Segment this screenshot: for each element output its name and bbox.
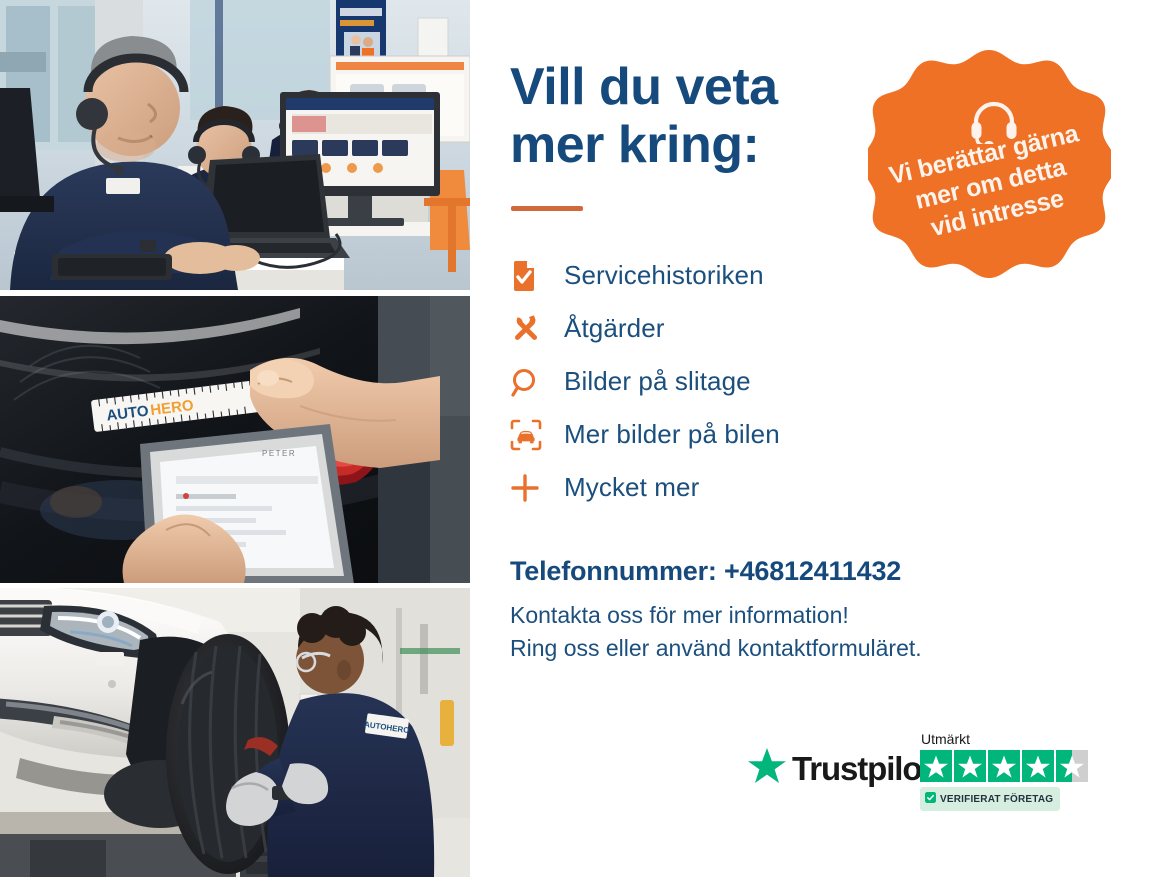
list-item: Åtgärder bbox=[510, 302, 970, 355]
trustpilot-star-icon bbox=[748, 748, 786, 789]
car-scan-icon bbox=[510, 419, 564, 451]
verified-badge: VERIFIERAT FÖRETAG bbox=[920, 787, 1060, 811]
contact-text: Kontakta oss för mer information! Ring o… bbox=[510, 599, 1070, 664]
star-rating bbox=[920, 750, 1100, 782]
star-half bbox=[1056, 750, 1088, 782]
contact-line-1: Kontakta oss för mer information! bbox=[510, 599, 1070, 632]
trustpilot-rating: Utmärkt bbox=[920, 731, 1100, 811]
verified-check-icon bbox=[925, 790, 936, 808]
contact-line-2: Ring oss eller använd kontaktformuläret. bbox=[510, 632, 1070, 665]
magnifier-icon bbox=[510, 366, 564, 398]
verified-label: VERIFIERAT FÖRETAG bbox=[940, 794, 1053, 805]
feature-label: Mer bilder på bilen bbox=[564, 419, 780, 450]
list-item: Bilder på slitage bbox=[510, 355, 970, 408]
star-filled bbox=[920, 750, 952, 782]
list-item: Mer bilder på bilen bbox=[510, 408, 970, 461]
headline-line-2: mer kring: bbox=[510, 116, 890, 174]
svg-text:PETER: PETER bbox=[262, 449, 296, 458]
info-badge: Vi berättar gärna mer om detta vid intre… bbox=[868, 47, 1111, 299]
phone-number[interactable]: Telefonnummer: +46812411432 bbox=[510, 556, 1070, 587]
plus-icon bbox=[510, 473, 564, 503]
trustpilot-wordmark: Trustpilot bbox=[792, 750, 931, 788]
tire-change-photo: AUTOHERO bbox=[0, 588, 470, 877]
rating-label: Utmärkt bbox=[921, 731, 1100, 747]
feature-label: Åtgärder bbox=[564, 313, 665, 344]
promo-banner: AUTO HERO bbox=[0, 0, 1170, 877]
star-filled bbox=[954, 750, 986, 782]
car-inspection-photo: AUTO HERO bbox=[0, 296, 470, 583]
trustpilot-logo: Trustpilot bbox=[748, 748, 931, 789]
title-divider bbox=[511, 206, 583, 211]
contact-block: Telefonnummer: +46812411432 Kontakta oss… bbox=[510, 556, 1070, 664]
feature-label: Servicehistoriken bbox=[564, 260, 764, 291]
star-filled bbox=[988, 750, 1020, 782]
content-panel: Vill du veta mer kring: Servicehistorike… bbox=[470, 0, 1170, 877]
document-check-icon bbox=[510, 260, 564, 292]
star-filled bbox=[1022, 750, 1054, 782]
list-item: Mycket mer bbox=[510, 461, 970, 514]
page-title: Vill du veta mer kring: bbox=[510, 58, 890, 174]
feature-label: Bilder på slitage bbox=[564, 366, 751, 397]
feature-label: Mycket mer bbox=[564, 472, 699, 503]
headline-line-1: Vill du veta bbox=[510, 58, 778, 116]
photo-collage: AUTO HERO bbox=[0, 0, 470, 877]
wrench-screwdriver-icon bbox=[510, 313, 564, 345]
trustpilot-widget[interactable]: Trustpilot Utmärkt bbox=[748, 731, 1108, 821]
call-center-agents-photo bbox=[0, 0, 470, 290]
